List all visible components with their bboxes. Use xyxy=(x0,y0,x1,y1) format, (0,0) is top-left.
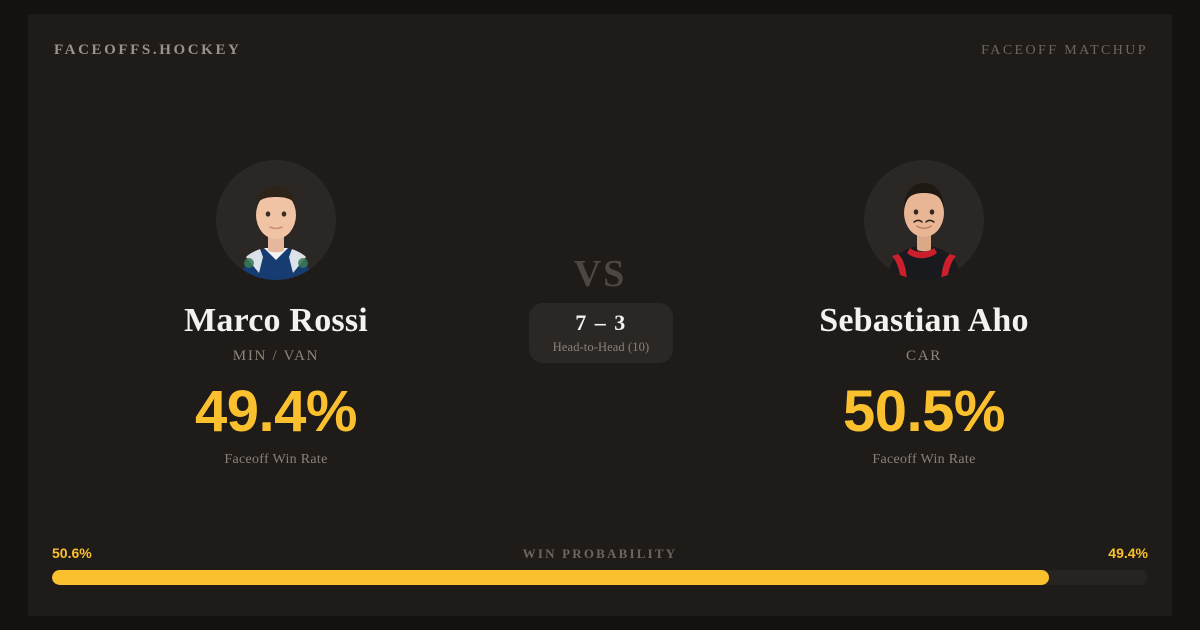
player-team-left: MIN / VAN xyxy=(66,348,486,365)
faceoff-win-rate-right: 50.5% xyxy=(714,383,1134,441)
head-to-head-label: Head-to-Head (10) xyxy=(553,341,649,354)
page-kicker: FACEOFF MATCHUP xyxy=(981,43,1148,59)
win-probability-bar xyxy=(52,570,1148,585)
faceoff-win-rate-left: 49.4% xyxy=(66,383,486,441)
win-probability-right-value: 49.4% xyxy=(1108,545,1148,561)
versus-label: VS xyxy=(500,252,700,296)
win-probability-title: WIN PROBABILITY xyxy=(0,546,1200,562)
player-name-right: Sebastian Aho xyxy=(714,302,1134,339)
player-card-left: Marco Rossi MIN / VAN 49.4% Faceoff Win … xyxy=(66,160,486,468)
player-headshot-left-icon xyxy=(216,160,336,280)
head-to-head-score: 7 – 3 xyxy=(575,312,627,334)
head-to-head-pill: 7 – 3 Head-to-Head (10) xyxy=(529,303,673,363)
brand-wordmark: FACEOFFS.HOCKEY xyxy=(54,42,241,59)
matchup-graphic: FACEOFFS.HOCKEY FACEOFF MATCHUP xyxy=(0,0,1200,630)
player-card-right: Sebastian Aho CAR 50.5% Faceoff Win Rate xyxy=(714,160,1134,468)
avatar-right xyxy=(864,160,984,280)
player-headshot-right-icon xyxy=(864,160,984,280)
win-probability-bar-fill xyxy=(52,570,1049,585)
player-team-right: CAR xyxy=(714,348,1134,365)
faceoff-win-rate-label-right: Faceoff Win Rate xyxy=(714,452,1134,468)
avatar-left xyxy=(216,160,336,280)
faceoff-win-rate-label-left: Faceoff Win Rate xyxy=(66,452,486,468)
player-name-left: Marco Rossi xyxy=(66,302,486,339)
